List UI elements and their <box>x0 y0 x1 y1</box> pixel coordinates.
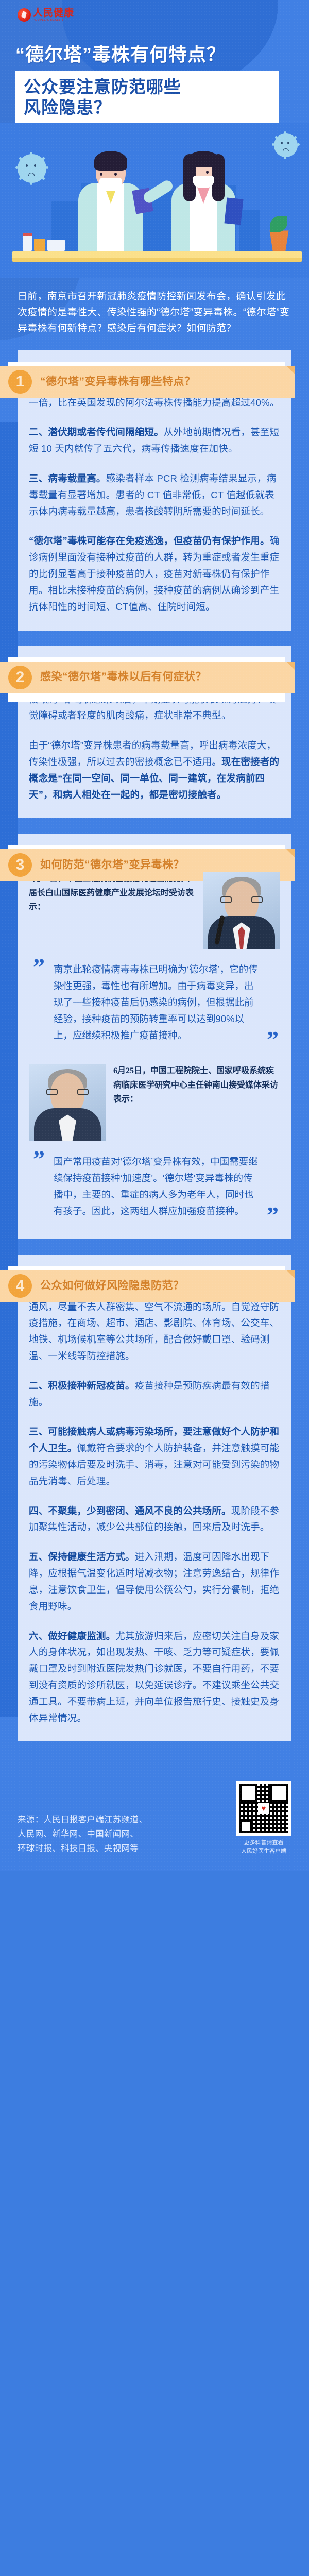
quote-close-icon-2: ” <box>267 1207 277 1225</box>
section-1: 1 “德尔塔”变异毒株有哪些特点？ 一、传播能力显著增强。比以往其他毒株的传播能… <box>18 350 291 631</box>
intro-paragraph: 日前，南京市召开新冠肺炎疫情防控新闻发布会，确认引发此次疫情的是毒性大、传染性强… <box>18 289 291 336</box>
section-2-body: 被“德尔塔”毒株感染以后，早期症状可能仅表现为乏力、嗅觉障碍或者轻度的肌肉酸痛，… <box>29 691 280 803</box>
expert-2-intro: 6月25日，中国工程院院士、国家呼吸系统疾病临床医学研究中心主任钟南山接受媒体采… <box>113 1064 280 1107</box>
page-title: “德尔塔”毒株有何特点？ <box>15 44 294 65</box>
intro-paragraph-block: 日前，南京市召开新冠肺炎疫情防控新闻发布会，确认引发此次疫情的是毒性大、传染性强… <box>0 278 309 350</box>
section-4: 4 公众如何做好风险隐患防范？ 一、坚持常态化疫情防控措施。科学佩戴口罩，勤洗手… <box>18 1255 291 1742</box>
s4-p5-lead: 五、保持健康生活方式。 <box>29 1551 135 1562</box>
s1-p2-lead: 二、潜伏期或者传代间隔缩短。 <box>29 427 164 437</box>
expert-2-quote-text: 国产常用疫苗对‘德尔塔’变异株有效，中国需要继续保持疫苗接种‘加速度’。‘德尔塔… <box>54 1154 260 1219</box>
page-subtitle-line2: 风险隐患？ <box>24 97 271 118</box>
page-subtitle-box: 公众要注意防范哪些 风险隐患？ <box>15 71 279 126</box>
section-3-card: 3 如何防范“德尔塔”变异毒株？ 7月28日，中国工程院院士张伯礼在出席第六届长… <box>18 834 291 1239</box>
section-4-band: 4 公众如何做好风险隐患防范？ <box>0 1270 295 1302</box>
section-1-title: “德尔塔”变异毒株有哪些特点？ <box>40 375 196 388</box>
s1-p4-lead: “德尔塔”毒株可能存在免疫逃逸，但疫苗仍有保护作用。 <box>29 535 270 546</box>
section-4-number: 4 <box>8 1274 32 1298</box>
expert-2-block: 6月25日，中国工程院院士、国家呼吸系统疾病临床医学研究中心主任钟南山接受媒体采… <box>29 1064 280 1141</box>
qr-caption: 更多科普请查看 人民好医生客户端 <box>236 1839 291 1856</box>
qr-code-icon[interactable]: ♥ <box>236 1781 291 1836</box>
s4-p2-lead: 二、积极接种新冠疫苗。 <box>29 1380 135 1391</box>
doctors-illustration <box>0 123 309 278</box>
expert-2-quote: ” 国产常用疫苗对‘德尔塔’变异株有效，中国需要继续保持疫苗接种‘加速度’。‘德… <box>29 1150 280 1228</box>
section-4-body: 一、坚持常态化疫情防控措施。科学佩戴口罩，勤洗手，常通风，尽量不去人群密集、空气… <box>29 1282 280 1726</box>
brand-logo-text: 人民健康 PEOPLE'S HEALTH <box>33 8 74 22</box>
qr-block: ♥ 更多科普请查看 人民好医生客户端 <box>236 1781 291 1856</box>
quote-close-icon: ” <box>267 1031 277 1049</box>
section-1-band: 1 “德尔塔”变异毒株有哪些特点？ <box>0 366 295 398</box>
section-4-card: 4 公众如何做好风险隐患防范？ 一、坚持常态化疫情防控措施。科学佩戴口罩，勤洗手… <box>18 1255 291 1742</box>
section-3-number: 3 <box>8 853 32 877</box>
section-4-title: 公众如何做好风险隐患防范？ <box>40 1279 184 1293</box>
s4-p6-lead: 六、做好健康监测。 <box>29 1631 115 1641</box>
section-3: 3 如何防范“德尔塔”变异毒株？ 7月28日，中国工程院院士张伯礼在出席第六届长… <box>18 834 291 1239</box>
page-header: 人民健康 PEOPLE'S HEALTH “德尔塔”毒株有何特点？ 公众要注意防… <box>0 0 309 125</box>
infographic-page: 人民健康 PEOPLE'S HEALTH “德尔塔”毒株有何特点？ 公众要注意防… <box>0 0 309 1871</box>
section-2: 2 感染“德尔塔”毒株以后有何症状？ 被“德尔塔”毒株感染以后，早期症状可能仅表… <box>18 646 291 819</box>
brand-name-cn: 人民健康 <box>33 8 74 18</box>
source-line-3: 环球时报、科技日报、央视网等 <box>18 1841 147 1856</box>
counter-edge <box>12 258 302 262</box>
quote-open-icon-2: ” <box>33 1150 43 1168</box>
section-2-title: 感染“德尔塔”毒株以后有何症状？ <box>40 670 207 684</box>
left-accent-stripe <box>0 422 18 1717</box>
source-line-1: 来源：人民日报客户端江苏频道、 <box>18 1812 147 1827</box>
page-subtitle-line1: 公众要注意防范哪些 <box>24 77 271 97</box>
page-footer: 来源：人民日报客户端江苏频道、 人民网、新华网、中国新闻网、 环球时报、科技日报… <box>0 1757 309 1871</box>
female-doctor-figure <box>170 143 237 251</box>
s1-p3-lead: 三、病毒载量高。 <box>29 473 106 484</box>
source-line-2: 人民网、新华网、中国新闻网、 <box>18 1827 147 1841</box>
s4-p6-text: 尤其旅游归来后，应密切关注自身及家人的身体状况，如出现发热、干咳、乏力等可疑症状… <box>29 1631 279 1723</box>
quote-open-icon: ” <box>33 958 43 976</box>
source-credit: 来源：人民日报客户端江苏频道、 人民网、新华网、中国新闻网、 环球时报、科技日报… <box>18 1812 147 1856</box>
brand-logo: 人民健康 PEOPLE'S HEALTH <box>0 8 309 22</box>
section-2-card: 2 感染“德尔塔”毒株以后有何症状？ 被“德尔塔”毒株感染以后，早期症状可能仅表… <box>18 646 291 819</box>
section-1-number: 1 <box>8 370 32 394</box>
virus-icon-left <box>18 154 46 183</box>
s4-p4-lead: 四、不聚集，少到密闭、通风不良的公共场所。 <box>29 1505 231 1516</box>
section-2-number: 2 <box>8 666 32 689</box>
expert-1-block: 7月28日，中国工程院院士张伯礼在出席第六届长白山国际医药健康产业发展论坛时受访… <box>29 872 280 949</box>
virus-icon-right <box>274 133 298 157</box>
section-1-body: 一、传播能力显著增强。比以往其他毒株的传播能力提高了一倍，比在英国发现的阿尔法毒… <box>29 378 280 615</box>
expert-1-quote: ” 南京此轮疫情病毒毒株已明确为‘德尔塔’，它的传染性更强，毒性也有所增加。由于… <box>29 958 280 1053</box>
zhong-nanshan-portrait <box>29 1064 106 1141</box>
zhang-boli-portrait <box>203 872 280 949</box>
section-2-band: 2 感染“德尔塔”毒株以后有何症状？ <box>0 662 295 693</box>
section-3-title: 如何防范“德尔塔”变异毒株？ <box>40 858 184 872</box>
title-block: “德尔塔”毒株有何特点？ 公众要注意防范哪些 风险隐患？ <box>0 22 309 126</box>
male-doctor-figure <box>77 148 144 251</box>
s1-p4-text: 确诊病例里面没有接种过疫苗的人群，转为重症或者发生重症的比例显著高于接种疫苗的人… <box>29 535 279 612</box>
people-daily-logo-icon <box>18 8 31 22</box>
qr-caption-line-1: 更多科普请查看 <box>236 1839 291 1848</box>
qr-heart-icon: ♥ <box>258 1803 269 1814</box>
qr-caption-line-2: 人民好医生客户端 <box>236 1848 291 1856</box>
expert-1-quote-text: 南京此轮疫情病毒毒株已明确为‘德尔塔’，它的传染性更强，毒性也有所增加。由于病毒… <box>54 961 260 1043</box>
medicine-bottle-icon <box>23 234 32 251</box>
section-1-card: 1 “德尔塔”变异毒株有哪些特点？ 一、传播能力显著增强。比以往其他毒株的传播能… <box>18 350 291 631</box>
